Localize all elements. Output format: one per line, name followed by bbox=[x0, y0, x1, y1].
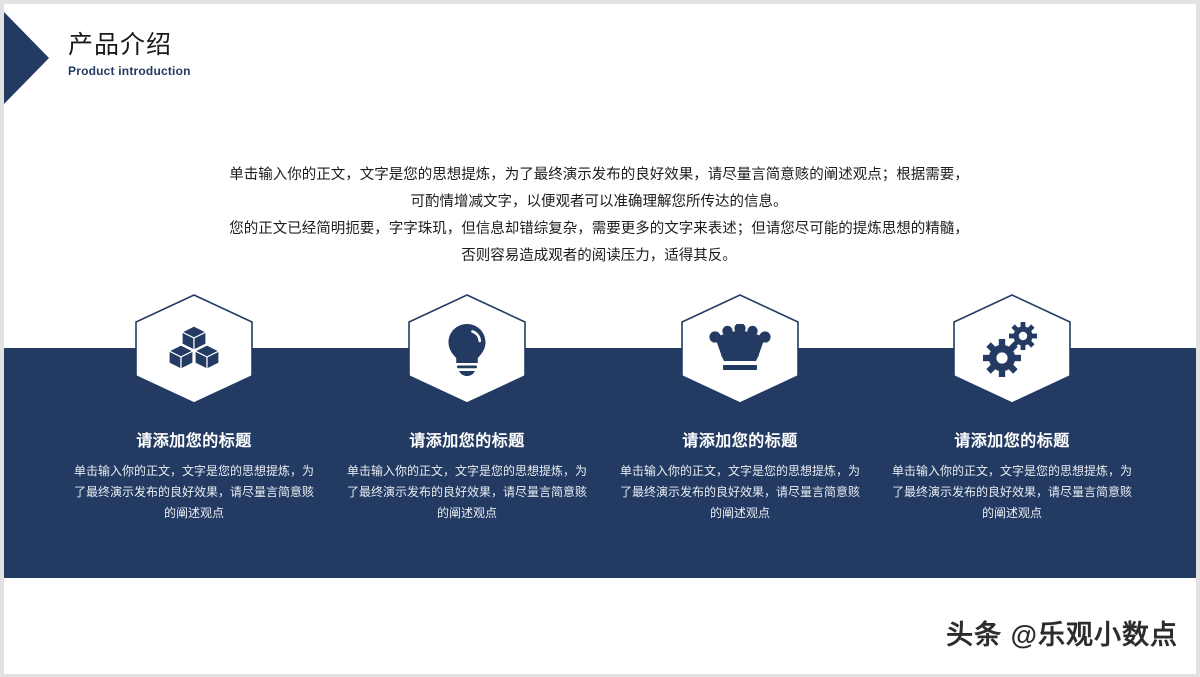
lightbulb-icon bbox=[406, 293, 528, 405]
hexagon-badge[interactable] bbox=[133, 293, 255, 405]
feature-title: 请添加您的标题 bbox=[66, 427, 322, 451]
page-subtitle: Product introduction bbox=[68, 63, 191, 79]
intro-line: 否则容易造成观者的阅读压力，适得其反。 bbox=[184, 243, 1014, 270]
slide-canvas: 产品介绍 Product introduction 单击输入你的正文，文字是您的… bbox=[4, 4, 1196, 674]
feature-column: 请添加您的标题 单击输入你的正文，文字是您的思想提炼，为了最终演示发布的良好效果… bbox=[612, 293, 868, 524]
page-title: 产品介绍 bbox=[68, 30, 191, 60]
cubes-icon bbox=[133, 293, 255, 405]
feature-description: 单击输入你的正文，文字是您的思想提炼，为了最终演示发布的良好效果，请尽量言简意赅… bbox=[612, 461, 868, 524]
feature-title: 请添加您的标题 bbox=[339, 427, 595, 451]
feature-column: 请添加您的标题 单击输入你的正文，文字是您的思想提炼，为了最终演示发布的良好效果… bbox=[66, 293, 322, 524]
hexagon-badge[interactable] bbox=[951, 293, 1073, 405]
intro-line: 您的正文已经简明扼要，字字珠玑，但信息却错综复杂，需要更多的文字来表述；但请您尽… bbox=[184, 216, 1014, 243]
crown-icon bbox=[679, 293, 801, 405]
page-title-group: 产品介绍 Product introduction bbox=[68, 30, 191, 79]
feature-title: 请添加您的标题 bbox=[612, 427, 868, 451]
feature-column: 请添加您的标题 单击输入你的正文，文字是您的思想提炼，为了最终演示发布的良好效果… bbox=[884, 293, 1140, 524]
gears-icon bbox=[951, 293, 1073, 405]
intro-line: 单击输入你的正文，文字是您的思想提炼，为了最终演示发布的良好效果，请尽量言简意赅… bbox=[184, 162, 1014, 189]
feature-column: 请添加您的标题 单击输入你的正文，文字是您的思想提炼，为了最终演示发布的良好效果… bbox=[339, 293, 595, 524]
feature-description: 单击输入你的正文，文字是您的思想提炼，为了最终演示发布的良好效果，请尽量言简意赅… bbox=[884, 461, 1140, 524]
feature-title: 请添加您的标题 bbox=[884, 427, 1140, 451]
feature-description: 单击输入你的正文，文字是您的思想提炼，为了最终演示发布的良好效果，请尽量言简意赅… bbox=[339, 461, 595, 524]
intro-line: 可酌情增减文字，以便观者可以准确理解您所传达的信息。 bbox=[184, 189, 1014, 216]
triangle-right-icon bbox=[4, 12, 49, 104]
watermark: 头条 @乐观小数点 bbox=[946, 613, 1178, 652]
hexagon-badge[interactable] bbox=[679, 293, 801, 405]
intro-paragraph: 单击输入你的正文，文字是您的思想提炼，为了最终演示发布的良好效果，请尽量言简意赅… bbox=[184, 162, 1014, 270]
feature-description: 单击输入你的正文，文字是您的思想提炼，为了最终演示发布的良好效果，请尽量言简意赅… bbox=[66, 461, 322, 524]
hexagon-badge[interactable] bbox=[406, 293, 528, 405]
